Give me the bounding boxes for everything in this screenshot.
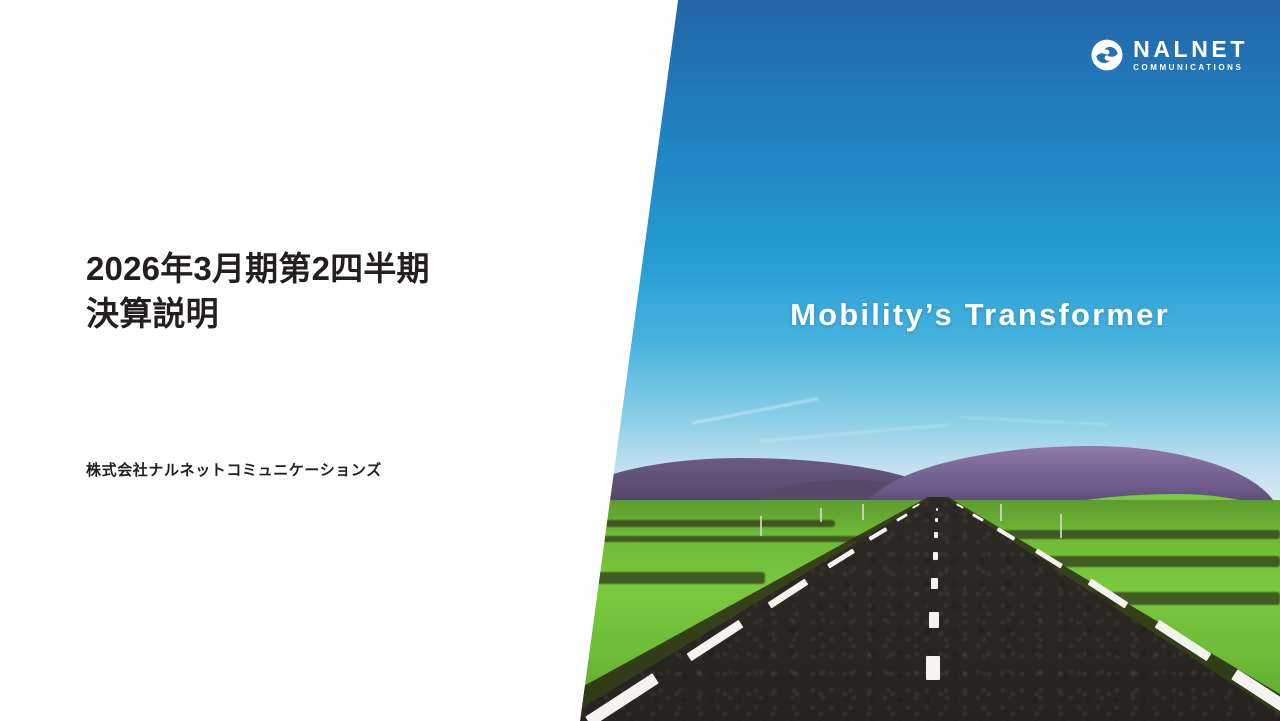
nalnet-swirl-mark — [1090, 38, 1124, 72]
logo-subtitle: COMMUNICATIONS — [1133, 64, 1248, 72]
road-center-dash — [931, 578, 938, 589]
roadside-pole — [760, 516, 762, 536]
roadside-pole — [1000, 504, 1002, 521]
logo-wordmark: NALNET COMMUNICATIONS — [1133, 38, 1248, 72]
hedgerow — [1040, 556, 1280, 567]
title-slide: Mobility’s Transformer NALNET COMMUNICAT… — [0, 0, 1280, 721]
roadside-pole — [1060, 514, 1062, 538]
road-center-dash — [936, 508, 938, 511]
road-center-dash — [926, 656, 940, 680]
hedgerow — [575, 572, 765, 584]
road-center-dash — [934, 532, 938, 538]
hedgerow — [1000, 530, 1280, 539]
tagline: Mobility’s Transformer — [680, 297, 1280, 333]
logo-name: NALNET — [1133, 38, 1248, 61]
hedgerow — [585, 520, 835, 527]
left-text-pane: 2026年3月期第2四半期 決算説明 株式会社ナルネットコミュニケーションズ — [0, 0, 680, 721]
page-title: 2026年3月期第2四半期 決算説明 — [86, 247, 556, 337]
road-center-dash — [933, 552, 938, 560]
roadside-pole — [820, 508, 822, 522]
road-center-dash — [935, 518, 938, 522]
road-center-dash — [929, 612, 939, 628]
roadside-pole — [862, 504, 864, 520]
company-logo[interactable]: NALNET COMMUNICATIONS — [1090, 38, 1248, 72]
company-name: 株式会社ナルネットコミュニケーションズ — [86, 459, 382, 480]
